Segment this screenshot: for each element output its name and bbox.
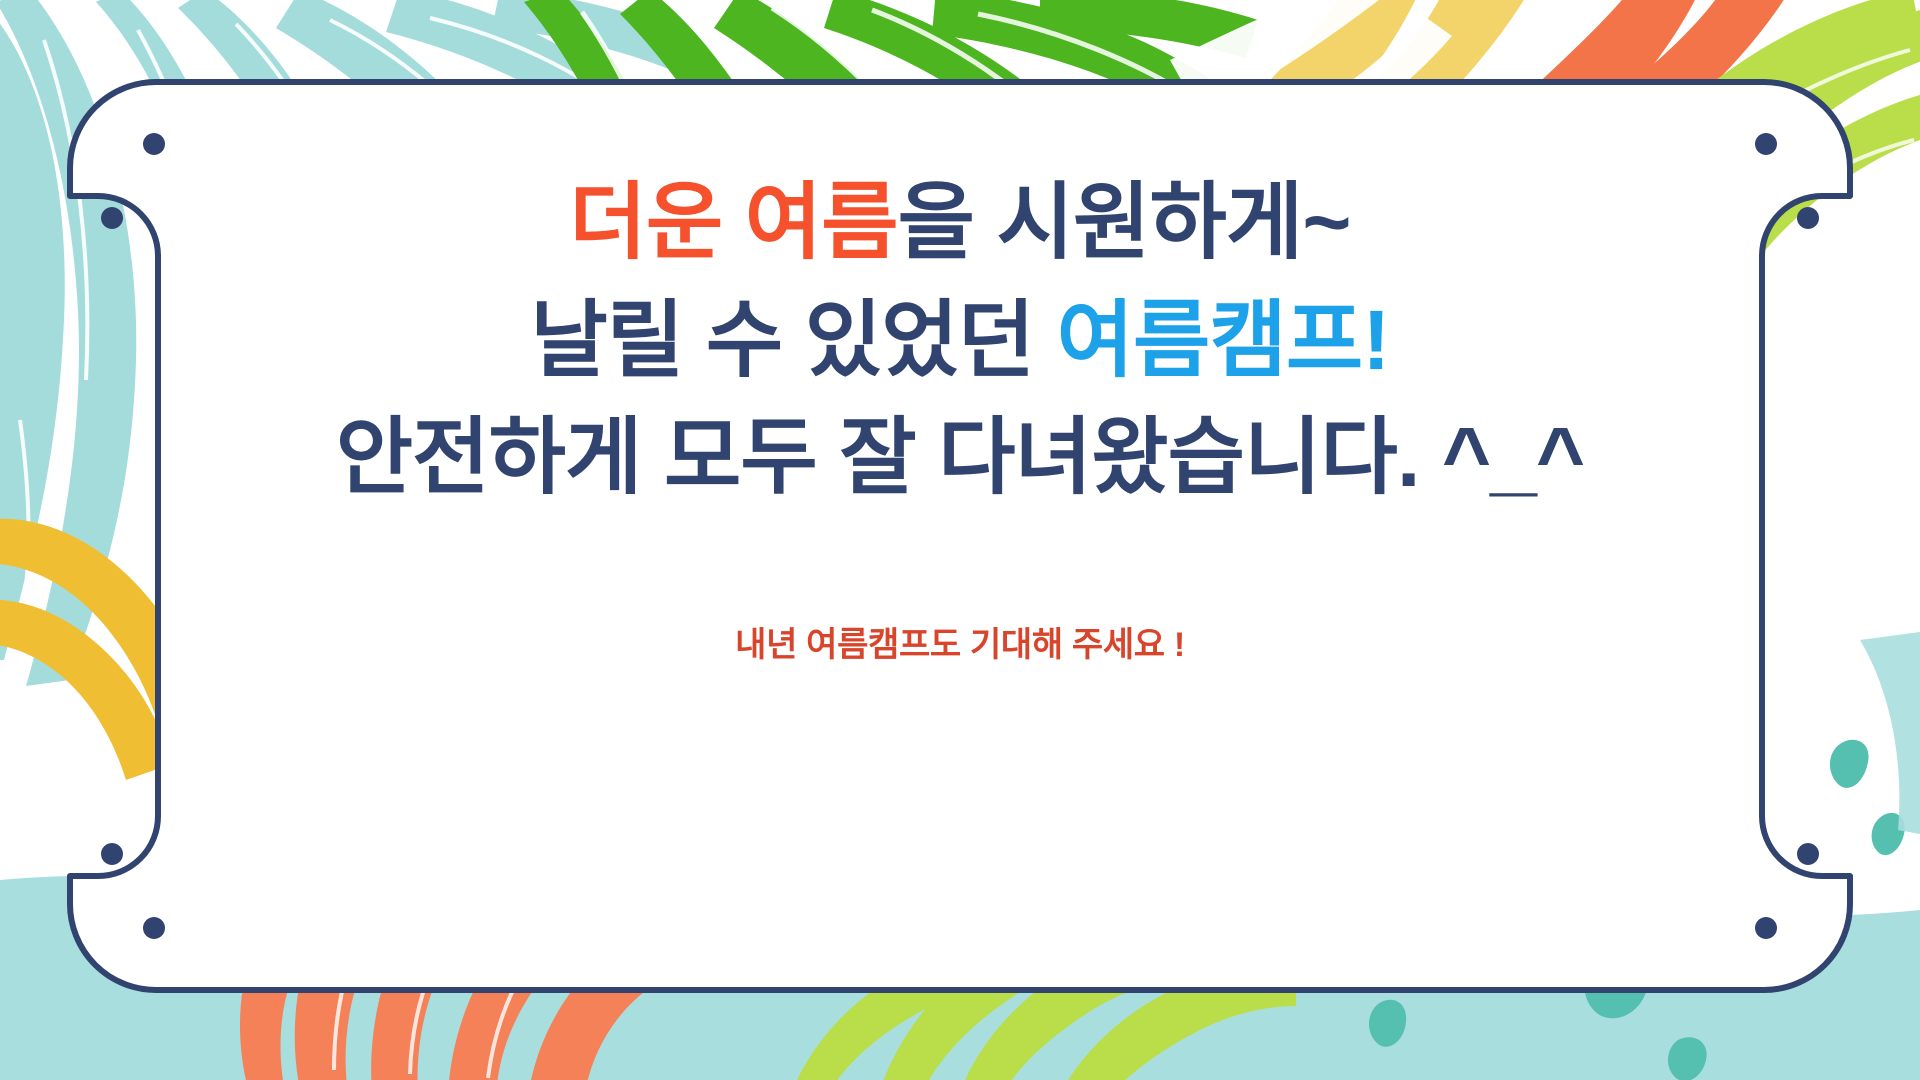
subtitle-text: 내년 여름캠프도 기대해 주세요 ! — [735, 617, 1185, 666]
headline-line-2-segment-1: 날릴 수 있었던 — [530, 293, 1056, 387]
signboard-panel: 더운 여름을 시원하게~ 날릴 수 있었던 여름캠프! 안전하게 모두 잘 다녀… — [64, 76, 1856, 996]
poster-canvas: 더운 여름을 시원하게~ 날릴 수 있었던 여름캠프! 안전하게 모두 잘 다녀… — [0, 0, 1920, 1080]
headline-line-1-segment-2: 을 시원하게~ — [898, 175, 1351, 269]
signboard-content: 더운 여름을 시원하게~ 날릴 수 있었던 여름캠프! 안전하게 모두 잘 다녀… — [64, 76, 1856, 996]
headline-line-2-segment-2: 여름캠프! — [1057, 293, 1390, 387]
headline-line-3: 안전하게 모두 잘 다녀왔습니다. ^_^ — [336, 415, 1585, 501]
headline-line-1: 더운 여름을 시원하게~ — [569, 180, 1350, 266]
headline-line-3-segment-1: 안전하게 모두 잘 다녀왔습니다. ^_^ — [336, 410, 1585, 504]
headline-line-1-segment-1: 더운 여름 — [569, 175, 897, 269]
headline-line-2: 날릴 수 있었던 여름캠프! — [530, 298, 1389, 384]
